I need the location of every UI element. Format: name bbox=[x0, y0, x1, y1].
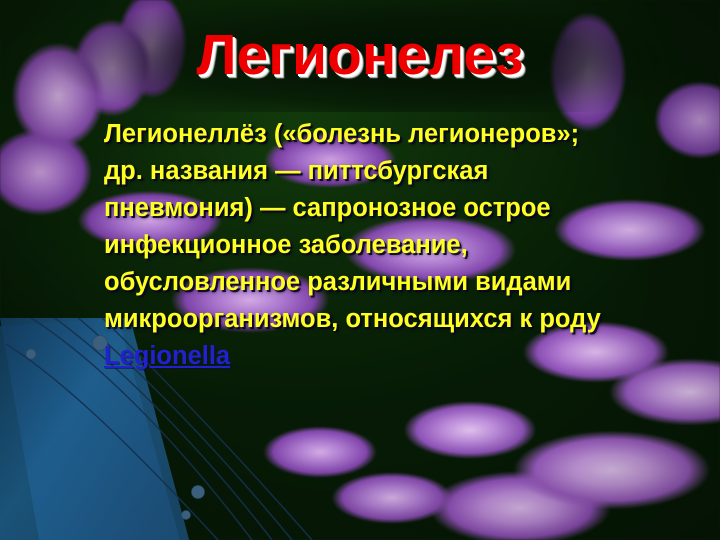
body-link-line: Legionella bbox=[104, 338, 704, 378]
slide-body-text: Легионеллёз («болезнь легионеров»; др. н… bbox=[104, 116, 704, 378]
body-line: микроорганизмов, относящихся к роду bbox=[104, 301, 704, 338]
body-line: Легионеллёз («болезнь легионеров»; bbox=[104, 116, 704, 153]
legionella-hyperlink[interactable]: Legionella bbox=[104, 342, 230, 370]
slide-title: Легионелез bbox=[0, 22, 720, 88]
presentation-slide: Легионелез Легионеллёз («болезнь легионе… bbox=[0, 0, 720, 540]
body-line: др. названия — питтсбургская bbox=[104, 153, 704, 190]
body-line: обусловленное различными видами bbox=[104, 264, 704, 301]
body-line: пневмония) — сапронозное острое bbox=[104, 190, 704, 227]
body-line: инфекционное заболевание, bbox=[104, 227, 704, 264]
